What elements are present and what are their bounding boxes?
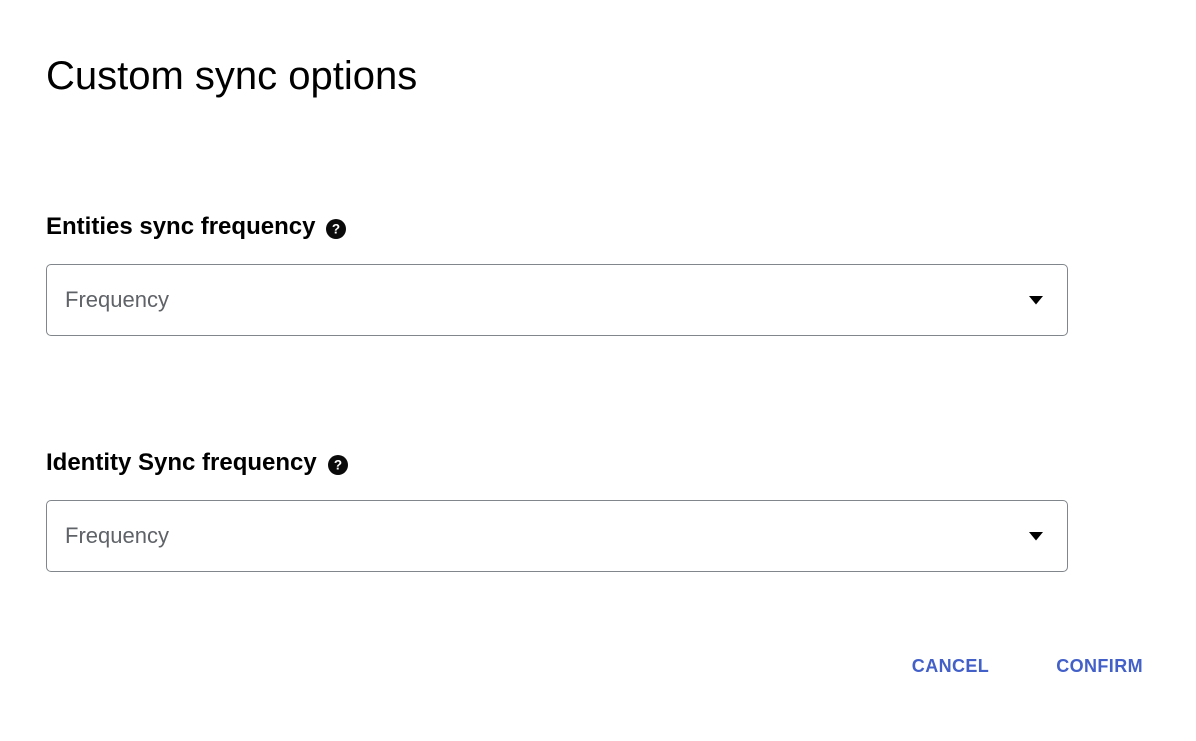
- field-group-entities-sync-frequency: Entities sync frequency ? Frequency: [46, 210, 1068, 336]
- svg-text:?: ?: [334, 457, 342, 472]
- help-circle-icon[interactable]: ?: [326, 219, 346, 239]
- field-label-row: Identity Sync frequency ?: [46, 446, 1068, 480]
- cancel-button[interactable]: CANCEL: [912, 653, 989, 679]
- field-label-row: Entities sync frequency ?: [46, 210, 1068, 244]
- select-identity-sync-frequency[interactable]: Frequency: [46, 500, 1068, 572]
- svg-text:?: ?: [332, 221, 340, 236]
- confirm-button[interactable]: CONFIRM: [1056, 653, 1143, 679]
- field-label-entities-sync-frequency: Entities sync frequency: [46, 211, 315, 243]
- chevron-down-icon[interactable]: [1029, 293, 1043, 307]
- field-label-identity-sync-frequency: Identity Sync frequency: [46, 447, 317, 479]
- select-entities-sync-frequency[interactable]: Frequency: [46, 264, 1068, 336]
- help-circle-icon[interactable]: ?: [328, 455, 348, 475]
- page-title: Custom sync options: [46, 52, 417, 100]
- field-group-identity-sync-frequency: Identity Sync frequency ? Frequency: [46, 446, 1068, 572]
- chevron-down-icon[interactable]: [1029, 529, 1043, 543]
- dialog-action-row: CANCEL CONFIRM: [0, 653, 1196, 679]
- select-entities-sync-frequency-value: Frequency: [47, 287, 169, 313]
- custom-sync-options-dialog: Custom sync options Entities sync freque…: [0, 0, 1196, 741]
- select-identity-sync-frequency-value: Frequency: [47, 523, 169, 549]
